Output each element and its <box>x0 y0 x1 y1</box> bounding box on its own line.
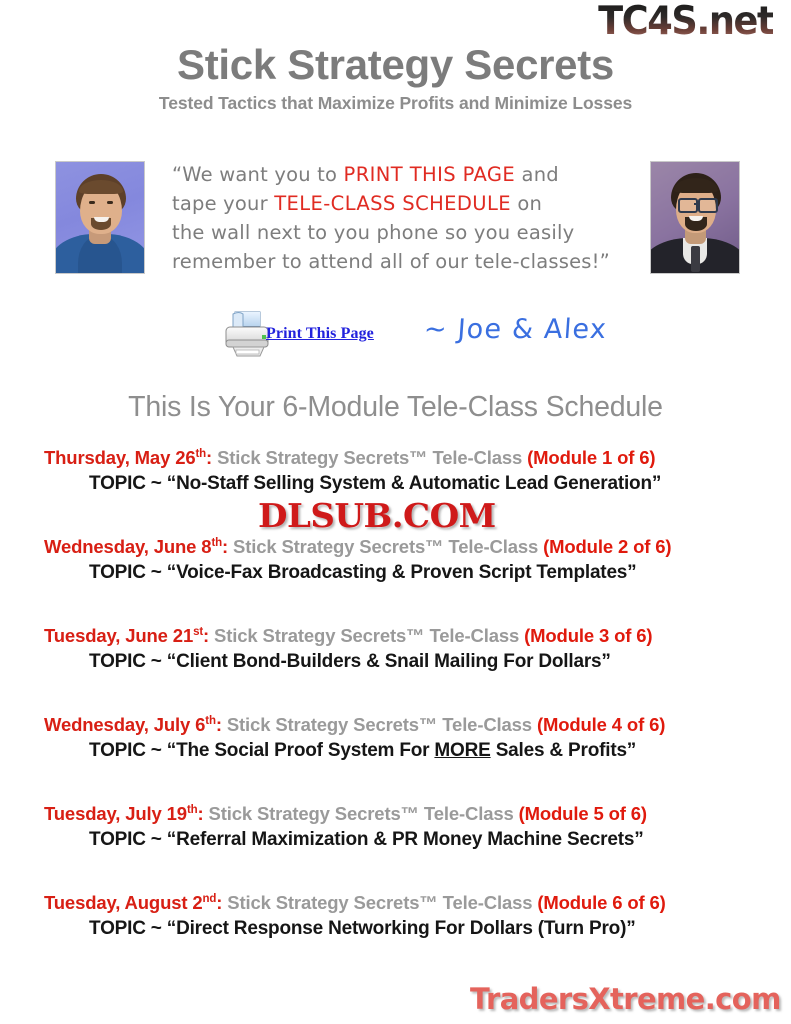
module-number-label: (Module 3 of 6) <box>524 625 652 646</box>
quote-line-1-a: “We want you to <box>172 163 344 186</box>
quote-line-1: “We want you to PRINT THIS PAGE and <box>172 160 642 189</box>
module-class-name: Stick Strategy Secrets™ Tele-Class <box>233 536 538 557</box>
module-date-colon: : <box>203 625 209 646</box>
module-topic-line: TOPIC ~ “No-Staff Selling System & Autom… <box>89 473 661 495</box>
module-topic-text: TOPIC ~ “Voice-Fax Broadcasting & Proven… <box>89 562 636 583</box>
module-number-label: (Module 4 of 6) <box>537 714 665 735</box>
module-date: Wednesday, June 8 <box>44 536 211 557</box>
module-date: Tuesday, June 21 <box>44 625 193 646</box>
signature-joe-and-alex: ~ Joe & Alex <box>423 314 608 345</box>
module-number-label: (Module 6 of 6) <box>537 892 665 913</box>
module-date-line: Tuesday, July 19th: Stick Strategy Secre… <box>44 803 647 825</box>
module-topic-text: TOPIC ~ “Direct Response Networking For … <box>89 918 636 939</box>
module-item: Tuesday, July 19th: Stick Strategy Secre… <box>0 803 791 892</box>
module-topic-post: Sales & Profits” <box>491 740 636 761</box>
module-date-ordinal: th <box>211 537 222 549</box>
module-topic-line: TOPIC ~ “Voice-Fax Broadcasting & Proven… <box>89 562 636 584</box>
module-date: Wednesday, July 6 <box>44 714 205 735</box>
quote-highlight-print-this-page: PRINT THIS PAGE <box>344 163 516 186</box>
module-list: Thursday, May 26th: Stick Strategy Secre… <box>0 447 791 981</box>
module-topic-text: TOPIC ~ “Client Bond-Builders & Snail Ma… <box>89 651 611 672</box>
module-date-ordinal: nd <box>203 893 217 905</box>
module-number-label: (Module 1 of 6) <box>527 447 655 468</box>
module-date-ordinal: th <box>187 804 198 816</box>
footer-logo-tradersxtreme: TradersXtreme.com <box>470 982 781 1016</box>
module-date-colon: : <box>222 536 228 557</box>
page-subtitle: Tested Tactics that Maximize Profits and… <box>0 93 791 114</box>
module-topic-pre: TOPIC ~ “The Social Proof System For <box>89 740 434 761</box>
module-date-line: Tuesday, June 21st: Stick Strategy Secre… <box>44 625 652 647</box>
module-date-line: Thursday, May 26th: Stick Strategy Secre… <box>44 447 655 469</box>
module-date-ordinal: st <box>193 626 203 638</box>
quote-line-2-a: tape your <box>172 192 274 215</box>
module-date-ordinal: th <box>195 448 206 460</box>
print-this-page-link[interactable]: Print This Page <box>266 325 374 343</box>
module-item: Tuesday, August 2nd: Stick Strategy Secr… <box>0 892 791 981</box>
quote-line-4: remember to attend all of our tele-class… <box>172 247 642 276</box>
module-topic-emphasis: MORE <box>434 740 490 761</box>
module-date-colon: : <box>206 447 212 468</box>
module-class-name: Stick Strategy Secrets™ Tele-Class <box>227 892 532 913</box>
module-number-label: (Module 2 of 6) <box>543 536 671 557</box>
module-number-label: (Module 5 of 6) <box>519 803 647 824</box>
module-class-name: Stick Strategy Secrets™ Tele-Class <box>217 447 522 468</box>
module-item: Wednesday, June 8th: Stick Strategy Secr… <box>0 536 791 625</box>
schedule-heading: This Is Your 6-Module Tele-Class Schedul… <box>0 391 791 424</box>
module-date: Tuesday, July 19 <box>44 803 187 824</box>
module-class-name: Stick Strategy Secrets™ Tele-Class <box>209 803 514 824</box>
module-item: Tuesday, June 21st: Stick Strategy Secre… <box>0 625 791 714</box>
module-item: Thursday, May 26th: Stick Strategy Secre… <box>0 447 791 536</box>
page-title: Stick Strategy Secrets <box>0 41 791 89</box>
module-topic-text: TOPIC ~ “No-Staff Selling System & Autom… <box>89 473 661 494</box>
avatar-joe <box>55 161 145 274</box>
quote-line-3: the wall next to you phone so you easily <box>172 218 642 247</box>
module-date-colon: : <box>216 892 222 913</box>
module-topic-line: TOPIC ~ “Client Bond-Builders & Snail Ma… <box>89 651 611 673</box>
module-date-line: Wednesday, July 6th: Stick Strategy Secr… <box>44 714 665 736</box>
glasses-icon <box>678 198 698 213</box>
avatar-alex <box>650 161 740 274</box>
brand-logo-tc4s: TC4S.net <box>598 2 773 41</box>
module-topic-line: TOPIC ~ “The Social Proof System For MOR… <box>89 740 636 762</box>
module-topic-line: TOPIC ~ “Referral Maximization & PR Mone… <box>89 829 644 851</box>
quote-line-1-b: and <box>515 163 559 186</box>
module-date-line: Tuesday, August 2nd: Stick Strategy Secr… <box>44 892 666 914</box>
module-date: Tuesday, August 2 <box>44 892 203 913</box>
module-date-colon: : <box>198 803 204 824</box>
module-date-ordinal: th <box>205 715 216 727</box>
quote-line-2-b: on <box>511 192 542 215</box>
module-topic-line: TOPIC ~ “Direct Response Networking For … <box>89 918 636 940</box>
module-class-name: Stick Strategy Secrets™ Tele-Class <box>227 714 532 735</box>
module-class-name: Stick Strategy Secrets™ Tele-Class <box>214 625 519 646</box>
module-date-colon: : <box>216 714 222 735</box>
module-item: Wednesday, July 6th: Stick Strategy Secr… <box>0 714 791 803</box>
quote-highlight-tele-class-schedule: TELE-CLASS SCHEDULE <box>274 192 511 215</box>
module-topic-text: TOPIC ~ “Referral Maximization & PR Mone… <box>89 829 644 850</box>
module-date: Thursday, May 26 <box>44 447 195 468</box>
module-date-line: Wednesday, June 8th: Stick Strategy Secr… <box>44 536 671 558</box>
quote-line-2: tape your TELE-CLASS SCHEDULE on <box>172 189 642 218</box>
quote-block: “We want you to PRINT THIS PAGE and tape… <box>172 160 642 276</box>
